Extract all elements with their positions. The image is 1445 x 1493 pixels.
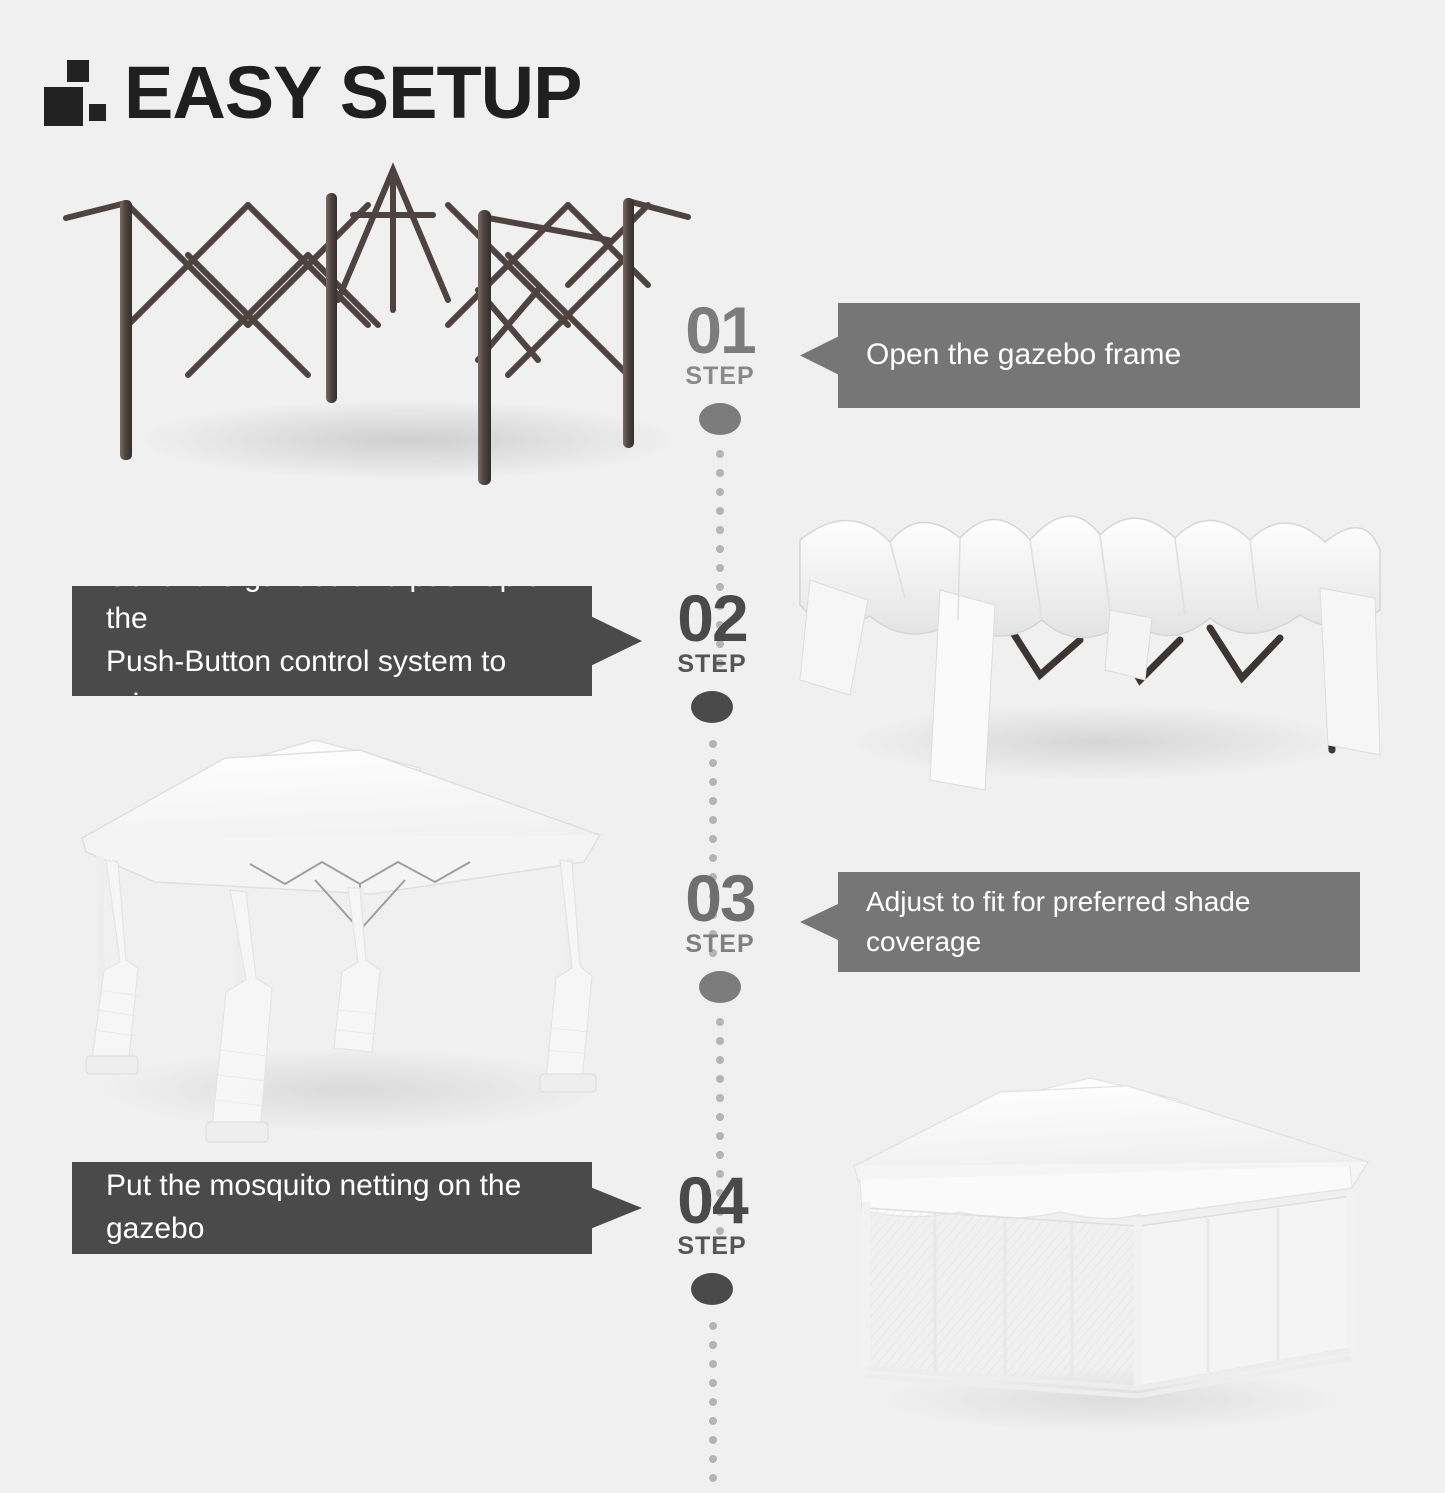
callout-step-01: Open the gazebo frame [800, 303, 1360, 408]
gazebo-with-draped-canopy-photo [780, 480, 1400, 810]
step-word-02: STEP [632, 650, 792, 679]
step-number-01: 01 [640, 300, 800, 361]
logo-square-top [67, 60, 89, 82]
callout-text-04: Put the mosquito netting on the gazebo [106, 1165, 568, 1250]
timeline-dots-04-end [707, 1322, 719, 1493]
callout-text-03: Adjust to fit for preferred shade covera… [866, 882, 1326, 962]
step-marker-01: 01 STEP [640, 300, 800, 435]
gazebo-with-mosquito-netting-photo [840, 1070, 1380, 1440]
step-dot-04 [691, 1273, 733, 1305]
step-number-04: 04 [632, 1170, 792, 1231]
callout-text-02-line-1: Cover the gazebo and push up on the [106, 556, 568, 641]
callout-text-02-line-2: Push-Button control system to raise [106, 641, 568, 726]
callout-text-01: Open the gazebo frame [866, 334, 1181, 377]
erected-gazebo-with-curtains-photo [60, 730, 620, 1150]
step-word-03: STEP [640, 930, 800, 959]
logo-square-small [89, 104, 106, 121]
step-dot-01 [699, 403, 741, 435]
callout-step-02: Cover the gazebo and push up on the Push… [72, 586, 642, 696]
three-squares-logo-icon [44, 48, 106, 128]
page-header: EASY SETUP [44, 48, 581, 128]
page-title: EASY SETUP [124, 57, 581, 128]
step-word-04: STEP [632, 1232, 792, 1261]
callout-step-04: Put the mosquito netting on the gazebo [72, 1162, 642, 1254]
step-number-03: 03 [640, 868, 800, 929]
step-dot-02 [691, 691, 733, 723]
callout-step-03: Adjust to fit for preferred shade covera… [800, 872, 1360, 972]
step-number-02: 02 [632, 588, 792, 649]
step-dot-03 [699, 971, 741, 1003]
step-word-01: STEP [640, 362, 800, 391]
logo-square-large [44, 87, 83, 126]
step-marker-03: 03 STEP [640, 868, 800, 1003]
step-marker-02: 02 STEP [632, 588, 792, 723]
step-marker-04: 04 STEP [632, 1170, 792, 1305]
collapsed-gazebo-frame-photo [48, 160, 708, 490]
